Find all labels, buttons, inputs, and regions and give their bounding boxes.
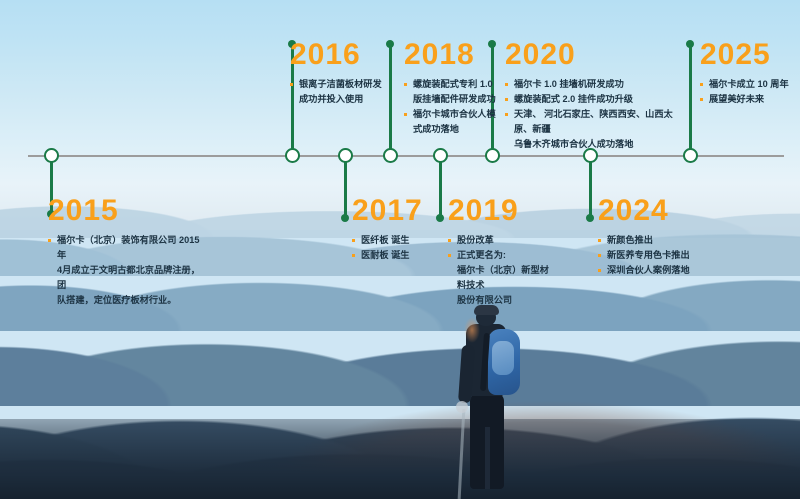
event-bullet: 医纤板 诞生 [352, 233, 452, 248]
timeline-event-2017: 2017医纤板 诞生医耐板 诞生 [352, 196, 452, 263]
timeline-event-2015: 2015福尔卡（北京）装饰有限公司 2015 年4月成立于文明古都北京品牌注册，… [48, 196, 208, 308]
event-bullet: 正式更名为: [448, 248, 558, 263]
event-bullet: 福尔卡（北京）新型材料技术 [448, 263, 558, 293]
event-bullet: 乌鲁木齐城市合伙人成功落地 [505, 137, 690, 152]
event-bullet: 式成功落地 [404, 122, 504, 137]
event-bullet: 4月成立于文明古都北京品牌注册，团 [48, 263, 208, 293]
timeline-event-2025: 2025福尔卡成立 10 周年展望美好未来 [700, 40, 800, 107]
event-bullet: 螺旋装配式 2.0 挂件成功升级 [505, 92, 690, 107]
event-bullet: 天津、 河北石家庄、陕西西安、山西太原、新疆 [505, 107, 690, 137]
timeline-node-dot-2018[interactable] [383, 148, 398, 163]
event-bullet: 福尔卡城市合伙人模 [404, 107, 504, 122]
event-bullets-2015: 福尔卡（北京）装饰有限公司 2015 年4月成立于文明古都北京品牌注册，团队搭建… [48, 233, 208, 308]
event-bullet: 福尔卡 1.0 挂墙机研发成功 [505, 77, 690, 92]
timeline-stem-cap-2024 [586, 214, 594, 222]
timeline-event-2024: 2024新颜色推出新医养专用色卡推出深圳合伙人案例落地 [598, 196, 728, 278]
event-bullets-2025: 福尔卡成立 10 周年展望美好未来 [700, 77, 800, 107]
event-bullet: 深圳合伙人案例落地 [598, 263, 728, 278]
hiker-figure [452, 305, 562, 499]
event-bullets-2018: 螺旋装配式专利 1.0版挂墙配件研发成功福尔卡城市合伙人模式成功落地 [404, 77, 504, 137]
event-bullet: 福尔卡成立 10 周年 [700, 77, 800, 92]
timeline-node-dot-2020[interactable] [485, 148, 500, 163]
timeline-event-2019: 2019股份改革正式更名为:福尔卡（北京）新型材料技术股份有限公司 [448, 196, 558, 308]
event-bullet: 新医养专用色卡推出 [598, 248, 728, 263]
year-label-2018: 2018 [404, 40, 504, 70]
timeline-event-2018: 2018螺旋装配式专利 1.0版挂墙配件研发成功福尔卡城市合伙人模式成功落地 [404, 40, 504, 137]
timeline-node-dot-2016[interactable] [285, 148, 300, 163]
timeline-stem-cap-2017 [341, 214, 349, 222]
event-bullet: 版挂墙配件研发成功 [404, 92, 504, 107]
timeline-node-dot-2019[interactable] [433, 148, 448, 163]
event-bullet: 展望美好未来 [700, 92, 800, 107]
timeline-stem-2017 [344, 156, 347, 218]
timeline-stem-2024 [589, 156, 592, 218]
event-bullet: 股份改革 [448, 233, 558, 248]
event-bullets-2020: 福尔卡 1.0 挂墙机研发成功螺旋装配式 2.0 挂件成功升级天津、 河北石家庄… [505, 77, 690, 152]
event-bullet: 螺旋装配式专利 1.0 [404, 77, 504, 92]
year-label-2020: 2020 [505, 40, 690, 70]
event-bullet: 福尔卡（北京）装饰有限公司 2015 年 [48, 233, 208, 263]
event-bullets-2019: 股份改革正式更名为:福尔卡（北京）新型材料技术股份有限公司 [448, 233, 558, 308]
event-bullet: 成功并投入使用 [290, 92, 390, 107]
event-bullet: 新颜色推出 [598, 233, 728, 248]
year-label-2025: 2025 [700, 40, 800, 70]
year-label-2019: 2019 [448, 196, 558, 226]
event-bullets-2016: 银离子洁菌板材研发成功并投入使用 [290, 77, 390, 107]
year-label-2015: 2015 [48, 196, 208, 226]
event-bullet: 医耐板 诞生 [352, 248, 452, 263]
year-label-2016: 2016 [290, 40, 390, 70]
timeline-event-2016: 2016银离子洁菌板材研发成功并投入使用 [290, 40, 390, 107]
foreground-slope [0, 419, 800, 499]
timeline-node-dot-2015[interactable] [44, 148, 59, 163]
timeline-node-dot-2017[interactable] [338, 148, 353, 163]
timeline-axis [28, 155, 784, 157]
year-label-2024: 2024 [598, 196, 728, 226]
timeline-event-2020: 2020福尔卡 1.0 挂墙机研发成功螺旋装配式 2.0 挂件成功升级天津、 河… [505, 40, 690, 152]
year-label-2017: 2017 [352, 196, 452, 226]
event-bullet: 银离子洁菌板材研发 [290, 77, 390, 92]
timeline-infographic: 2015福尔卡（北京）装饰有限公司 2015 年4月成立于文明古都北京品牌注册，… [0, 0, 800, 499]
event-bullets-2017: 医纤板 诞生医耐板 诞生 [352, 233, 452, 263]
event-bullets-2024: 新颜色推出新医养专用色卡推出深圳合伙人案例落地 [598, 233, 728, 278]
event-bullet: 队搭建，定位医疗板材行业。 [48, 293, 208, 308]
event-bullet: 股份有限公司 [448, 293, 558, 308]
